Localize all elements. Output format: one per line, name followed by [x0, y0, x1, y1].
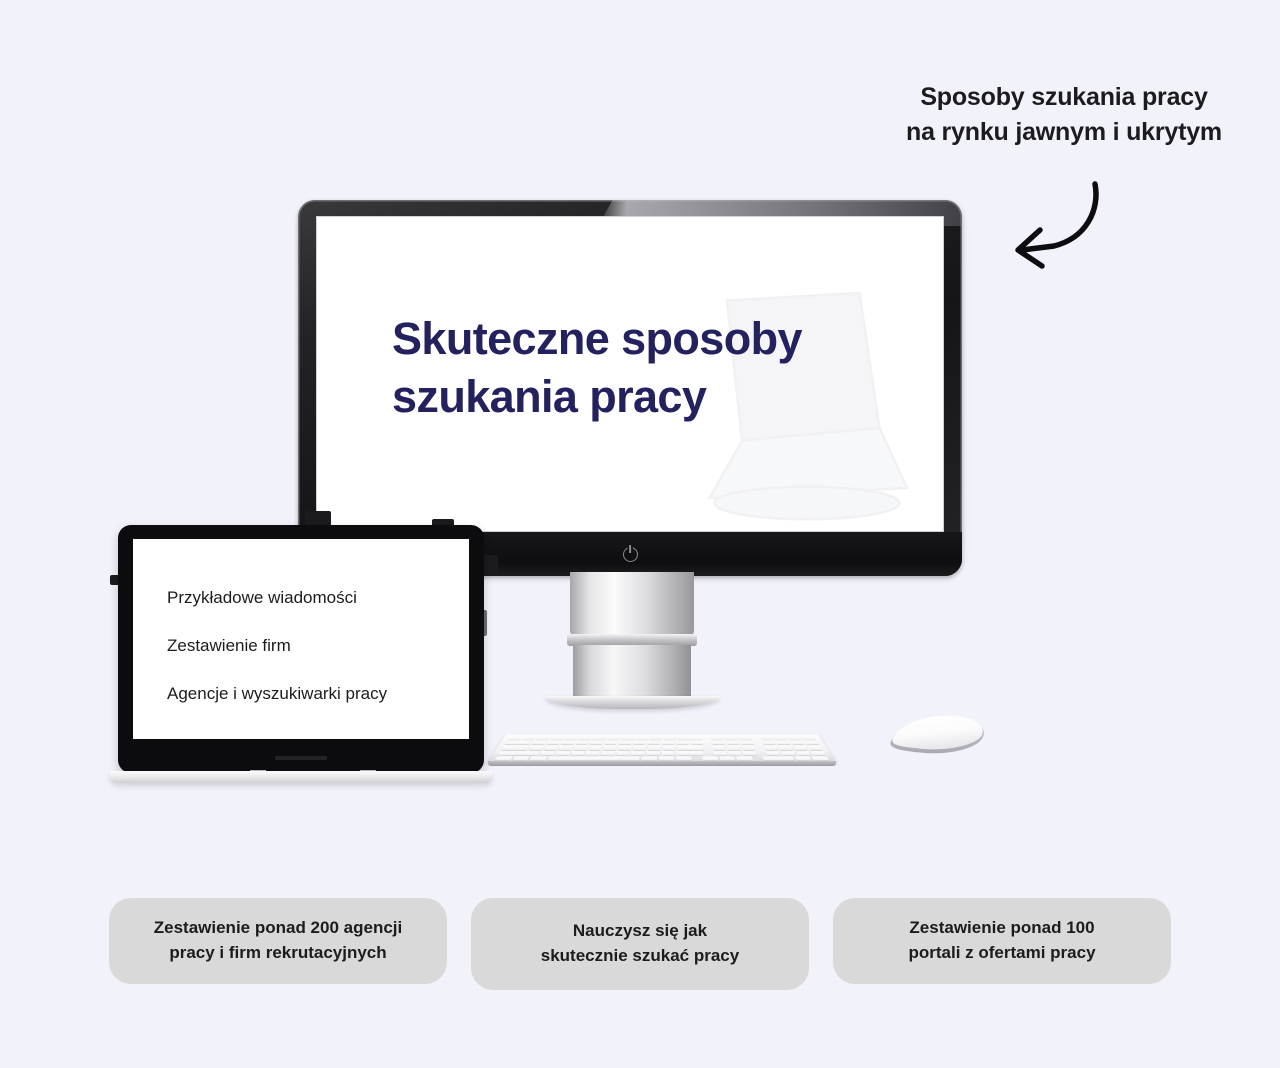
keyboard[interactable]: [487, 711, 837, 763]
list-item: Agencje i wyszukiwarki pracy: [167, 685, 459, 702]
badge-line: Nauczysz się jak: [541, 919, 739, 944]
power-icon[interactable]: [623, 547, 638, 562]
laptop-feature-list: Przykładowe wiadomości Zestawienie firm …: [167, 589, 459, 733]
badge-line: Zestawienie ponad 200 agencji: [154, 916, 402, 941]
keyboard-keys: [487, 734, 837, 763]
badge-line: pracy i firm rekrutacyjnych: [154, 941, 402, 966]
desktop-monitor: Skuteczne sposoby szukania pracy: [298, 200, 962, 576]
monitor-stand-base: [545, 696, 720, 709]
promo-heading-line-1: Sposoby szukania pracy: [848, 80, 1280, 115]
computer-mouse[interactable]: [883, 711, 991, 759]
screen-title-line-1: Skuteczne sposoby: [392, 310, 912, 368]
keyboard-base: [488, 761, 836, 766]
badge-line: Zestawienie ponad 100: [908, 916, 1095, 941]
badge-portals[interactable]: Zestawienie ponad 100 portali z ofertami…: [833, 898, 1171, 984]
promo-heading-line-2: na rynku jawnym i ukrytym: [848, 115, 1280, 150]
monitor-stand-column: [573, 645, 691, 699]
laptop-brand-mark: [275, 756, 327, 760]
laptop-bezel: Przykładowe wiadomości Zestawienie firm …: [118, 525, 484, 773]
badge-agencies[interactable]: Zestawienie ponad 200 agencji pracy i fi…: [109, 898, 447, 984]
laptop-base: [110, 771, 492, 783]
badge-line: portali z ofertami pracy: [908, 941, 1095, 966]
list-item: Przykładowe wiadomości: [167, 589, 459, 606]
laptop-tablet: Przykładowe wiadomości Zestawienie firm …: [110, 525, 492, 793]
screen-title-line-2: szukania pracy: [392, 368, 912, 426]
feature-badges: Zestawienie ponad 200 agencji pracy i fi…: [0, 898, 1280, 990]
monitor-bezel: Skuteczne sposoby szukania pracy: [298, 200, 962, 576]
list-item: Zestawienie firm: [167, 637, 459, 654]
monitor-screen: Skuteczne sposoby szukania pracy: [316, 216, 944, 532]
monitor-stand-neck: [570, 572, 694, 636]
badge-line: skutecznie szukać pracy: [541, 944, 739, 969]
laptop-screen: Przykładowe wiadomości Zestawienie firm …: [133, 539, 469, 739]
laptop-right-port: [484, 555, 498, 573]
curved-arrow-left-icon: [996, 176, 1116, 272]
monitor-screen-title: Skuteczne sposoby szukania pracy: [392, 310, 912, 425]
promo-heading: Sposoby szukania pracy na rynku jawnym i…: [848, 80, 1280, 149]
laptop-left-button[interactable]: [110, 575, 118, 585]
badge-learning[interactable]: Nauczysz się jak skutecznie szukać pracy: [471, 898, 809, 990]
